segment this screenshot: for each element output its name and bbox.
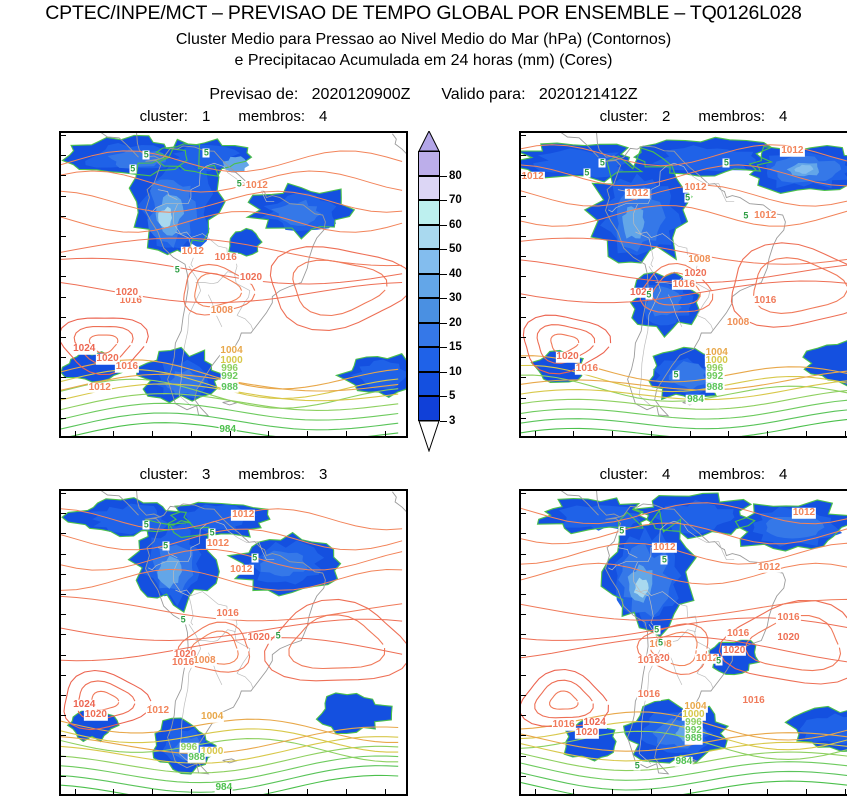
isobar-label: 984 — [686, 394, 705, 405]
cluster-label: cluster: — [600, 466, 648, 483]
isobar-label: 1020 — [247, 633, 271, 644]
colorbar-cell — [418, 347, 440, 372]
x-axis-tick — [728, 431, 729, 436]
precip-contour-label: 5 — [174, 266, 181, 275]
isobar-label: 1012 — [521, 172, 545, 183]
isobar-label: 988 — [220, 382, 239, 393]
x-axis-tick — [385, 431, 386, 436]
y-axis-tick — [521, 216, 526, 217]
y-axis-tick — [521, 594, 526, 595]
y-axis-tick — [61, 614, 66, 615]
colorbar-value-label: 70 — [449, 194, 462, 206]
isobar-label: 988 — [705, 382, 724, 393]
x-axis-tick — [113, 789, 114, 794]
colorbar-cell — [418, 274, 440, 299]
precip-contour-label: 5 — [715, 656, 722, 665]
y-axis-tick — [521, 735, 526, 736]
colorbar-cell — [418, 323, 440, 348]
y-axis-tick — [61, 594, 66, 595]
isobar-label: 1008 — [210, 306, 234, 317]
isobar-label: 1016 — [672, 279, 696, 290]
colorbar-cell — [418, 176, 440, 201]
y-axis-tick — [521, 175, 526, 176]
isobar-label: 1016 — [741, 696, 765, 707]
x-axis-tick — [806, 789, 807, 794]
y-axis-tick — [61, 256, 66, 257]
colorbar-cell — [418, 225, 440, 250]
y-axis-tick — [521, 236, 526, 237]
precip-contour-label: 5 — [275, 632, 282, 641]
panel-4: cluster:4membros:41012101210121016102010… — [519, 489, 847, 796]
y-axis-tick — [521, 398, 526, 399]
x-axis-tick — [845, 431, 846, 436]
colorbar-value-label: 80 — [449, 170, 462, 182]
precip-contour-label: 5 — [203, 149, 210, 158]
members-count: 3 — [319, 466, 327, 483]
y-axis-tick — [61, 574, 66, 575]
colorbar-tick — [440, 372, 447, 373]
isobar-label: 1012 — [757, 563, 781, 574]
colorbar-tick — [440, 176, 447, 177]
cluster-number: 2 — [662, 108, 670, 125]
isobar-label: 1004 — [200, 712, 224, 723]
x-axis-tick — [651, 431, 652, 436]
y-axis-tick — [521, 776, 526, 777]
panel-4-plot-area[interactable]: 1012101210121016102010081020101210161016… — [519, 489, 847, 796]
precip-contour-label: 5 — [599, 159, 606, 168]
x-axis-tick — [191, 431, 192, 436]
y-axis-tick — [61, 756, 66, 757]
x-axis-tick — [230, 789, 231, 794]
isobar-label: 1012 — [780, 146, 804, 157]
x-axis-tick — [307, 789, 308, 794]
x-axis-tick — [728, 789, 729, 794]
colorbar-tick — [440, 421, 447, 422]
x-axis-tick — [191, 789, 192, 794]
members-label: membros: — [238, 108, 305, 125]
isobars — [61, 151, 406, 436]
cluster-label: cluster: — [600, 108, 648, 125]
isobar-label: 1012 — [753, 211, 777, 222]
precip-contour-label: 5 — [162, 541, 169, 550]
y-axis-tick — [521, 418, 526, 419]
panel-3: cluster:3membros:31012101210121016102010… — [59, 489, 408, 796]
x-axis-tick — [845, 789, 846, 794]
colorbar-arrow-above-max — [418, 131, 440, 152]
colorbar-tick — [440, 249, 447, 250]
y-axis-tick — [61, 715, 66, 716]
precip-contour-label: 5 — [634, 761, 641, 770]
isobar-label: 1016 — [753, 295, 777, 306]
x-axis-tick — [690, 789, 691, 794]
x-axis-tick — [75, 789, 76, 794]
isobar-label: 1012 — [245, 180, 269, 191]
isobar-label: 1012 — [652, 542, 676, 553]
y-axis-tick — [521, 533, 526, 534]
y-axis-tick — [61, 655, 66, 656]
precip-contour-label: 5 — [209, 529, 216, 538]
y-axis-tick — [521, 715, 526, 716]
x-axis-tick — [612, 431, 613, 436]
precip-contour-label: 5 — [742, 211, 749, 220]
isobar-label: 1012 — [625, 188, 649, 199]
panel-4-title: cluster:4membros:4 — [519, 466, 847, 483]
y-axis-tick — [61, 418, 66, 419]
x-axis-tick — [535, 431, 536, 436]
precip-contour-label: 5 — [180, 616, 187, 625]
y-axis-tick — [521, 756, 526, 757]
y-axis-tick — [521, 695, 526, 696]
y-axis-tick — [521, 276, 526, 277]
y-axis-tick — [521, 297, 526, 298]
isobar-label: 1020 — [776, 633, 800, 644]
members-count: 4 — [779, 466, 787, 483]
isobar-label: 1012 — [231, 510, 255, 521]
y-axis-tick — [521, 135, 526, 136]
y-axis-tick — [521, 634, 526, 635]
colorbar-value-label: 5 — [449, 390, 455, 402]
isobar-label: 1016 — [171, 657, 195, 668]
y-axis-tick — [61, 377, 66, 378]
x-axis-tick — [573, 789, 574, 794]
y-axis-tick — [61, 735, 66, 736]
y-axis-tick — [61, 634, 66, 635]
isobar-label: 1020 — [555, 352, 579, 363]
y-axis-tick — [61, 493, 66, 494]
x-axis-tick — [268, 431, 269, 436]
colorbar-tick — [440, 347, 447, 348]
precip-contour-label: 5 — [723, 159, 730, 168]
subtitle-line-2: e Precipitacao Acumulada em 24 horas (mm… — [0, 52, 847, 70]
precip-contour-label: 5 — [653, 626, 660, 635]
panel-2: cluster:2membros:41012101210121012101210… — [519, 131, 847, 438]
forecast-time-line: Previsao de: 2020120900Z Valido para: 20… — [0, 86, 847, 104]
y-axis-tick — [521, 317, 526, 318]
colorbar-value-label: 15 — [449, 341, 462, 353]
y-axis-tick — [521, 377, 526, 378]
colorbar-value-label: 40 — [449, 268, 462, 280]
isobar-label: 1020 — [239, 273, 263, 284]
isobar-label: 1016 — [552, 720, 576, 731]
y-axis-tick — [61, 337, 66, 338]
y-axis-tick — [521, 513, 526, 514]
y-axis-tick — [521, 655, 526, 656]
y-axis-tick — [521, 493, 526, 494]
cluster-number: 4 — [662, 466, 670, 483]
x-axis-tick — [535, 789, 536, 794]
y-axis-tick — [61, 398, 66, 399]
members-label: membros: — [698, 466, 765, 483]
members-label: membros: — [238, 466, 305, 483]
x-axis-tick — [806, 431, 807, 436]
y-axis-tick — [61, 216, 66, 217]
colorbar-value-label: 60 — [449, 219, 462, 231]
precip-contour-label: 5 — [143, 521, 150, 530]
colorbar-cell — [418, 151, 440, 176]
x-axis-tick — [767, 789, 768, 794]
y-axis-tick — [61, 236, 66, 237]
isobar-label: 1016 — [216, 609, 240, 620]
precip-contour-label: 5 — [251, 553, 258, 562]
x-axis-tick — [573, 431, 574, 436]
y-axis-tick — [521, 614, 526, 615]
y-axis-tick — [61, 276, 66, 277]
y-axis-tick — [521, 675, 526, 676]
y-axis-tick — [521, 554, 526, 555]
precip-contour-label: 5 — [645, 290, 652, 299]
y-axis-tick — [521, 574, 526, 575]
subtitle-line-1: Cluster Medio para Pressao ao Nivel Medi… — [0, 31, 847, 49]
y-axis-tick — [521, 357, 526, 358]
colorbar-cell — [418, 298, 440, 323]
y-axis-tick — [61, 196, 66, 197]
y-axis-tick — [61, 175, 66, 176]
y-axis-tick — [61, 554, 66, 555]
isobar-label: 1012 — [792, 508, 816, 519]
x-axis-tick — [152, 431, 153, 436]
y-axis-tick — [521, 155, 526, 156]
y-axis-tick — [61, 675, 66, 676]
valid-for-value: 2020121412Z — [539, 86, 638, 103]
colorbar-cell — [418, 372, 440, 397]
isobar-label: 1008 — [687, 255, 711, 266]
colorbar-value-label: 50 — [449, 243, 462, 255]
precip-contour-label: 5 — [673, 371, 680, 380]
y-axis-tick — [61, 357, 66, 358]
precip-contour-label: 5 — [657, 638, 664, 647]
x-axis-tick — [346, 789, 347, 794]
y-axis-tick — [61, 155, 66, 156]
members-label: membros: — [698, 108, 765, 125]
x-axis-tick — [385, 789, 386, 794]
colorbar-cell — [418, 200, 440, 225]
x-axis-tick — [307, 431, 308, 436]
y-axis-tick — [61, 513, 66, 514]
panel-2-title: cluster:2membros:4 — [519, 108, 847, 125]
isobar-label: 1024 — [72, 344, 96, 355]
x-axis-tick — [75, 431, 76, 436]
y-axis-tick — [61, 776, 66, 777]
isobar-label: 1012 — [206, 538, 230, 549]
y-axis-tick — [61, 297, 66, 298]
precip-contour-label: 5 — [129, 165, 136, 174]
isobar-label: 1012 — [88, 382, 112, 393]
colorbar-value-label: 3 — [449, 415, 455, 427]
colorbar-value-label: 10 — [449, 366, 462, 378]
panel-3-plot-area[interactable]: 1012101210121016102010201008101610241020… — [59, 489, 408, 796]
y-axis-tick — [521, 196, 526, 197]
isobar-label: 1016 — [637, 655, 661, 666]
panel-3-field — [61, 491, 406, 794]
panel-1: cluster:1membros:41012101210161016102010… — [59, 131, 408, 438]
colorbar-tick — [440, 298, 447, 299]
y-axis-tick — [521, 256, 526, 257]
isobar-label: 1020 — [115, 287, 139, 298]
panel-1-title: cluster:1membros:4 — [59, 108, 408, 125]
y-axis-tick — [61, 695, 66, 696]
isobar-label: 1020 — [84, 710, 108, 721]
x-axis-tick — [268, 789, 269, 794]
isobar-label: 1020 — [722, 645, 746, 656]
x-axis-tick — [690, 431, 691, 436]
precip-contour-label: 5 — [143, 151, 150, 160]
colorbar-tick — [440, 274, 447, 275]
colorbar: 80706050403020151053 — [418, 131, 488, 443]
isobar-label: 988 — [684, 734, 703, 745]
isobar-label: 1016 — [726, 629, 750, 640]
isobar-label: 984 — [674, 756, 693, 767]
colorbar-tick — [440, 396, 447, 397]
cluster-label: cluster: — [140, 466, 188, 483]
x-axis-tick — [230, 431, 231, 436]
cluster-label: cluster: — [140, 108, 188, 125]
isobar-label: 1012 — [181, 247, 205, 258]
isobar-label: 988 — [187, 752, 206, 763]
y-axis-tick — [61, 317, 66, 318]
isobar-label: 1016 — [214, 253, 238, 264]
x-axis-tick — [767, 431, 768, 436]
colorbar-cell — [418, 396, 440, 421]
isobar-label: 1016 — [575, 364, 599, 375]
precip-contour-label: 5 — [661, 555, 668, 564]
x-axis-tick — [612, 789, 613, 794]
isobar-label: 1016 — [776, 613, 800, 624]
panel-2-plot-area[interactable]: 1012101210121012101210201016100810241008… — [519, 131, 847, 438]
precip-contour-label: 5 — [618, 527, 625, 536]
precip-contour-label: 5 — [583, 169, 590, 178]
y-axis-tick — [61, 533, 66, 534]
members-count: 4 — [319, 108, 327, 125]
cluster-number: 1 — [202, 108, 210, 125]
isobar-label: 1008 — [726, 318, 750, 329]
forecast-from-value: 2020120900Z — [312, 86, 411, 103]
members-count: 4 — [779, 108, 787, 125]
colorbar-value-label: 30 — [449, 292, 462, 304]
precip-contour-label: 5 — [236, 179, 243, 188]
isobar-label: 1016 — [115, 362, 139, 373]
isobar-label: 1008 — [192, 655, 216, 666]
y-axis-tick — [61, 135, 66, 136]
colorbar-value-label: 20 — [449, 317, 462, 329]
isobar-label: 1012 — [229, 565, 253, 576]
valid-for-label: Valido para: — [441, 86, 525, 103]
isobar-label: 984 — [218, 425, 237, 436]
main-title: CPTEC/INPE/MCT – PREVISAO DE TEMPO GLOBA… — [0, 2, 847, 25]
colorbar-tick — [440, 200, 447, 201]
panel-3-title: cluster:3membros:3 — [59, 466, 408, 483]
isobar-label: 1012 — [146, 706, 170, 717]
colorbar-arrow-below-min — [418, 421, 440, 452]
x-axis-tick — [346, 431, 347, 436]
x-axis-tick — [651, 789, 652, 794]
x-axis-tick — [113, 431, 114, 436]
precip-contour-label: 5 — [684, 193, 691, 202]
x-axis-tick — [152, 789, 153, 794]
colorbar-tick — [440, 225, 447, 226]
isobar-label: 1020 — [575, 728, 599, 739]
forecast-from-label: Previsao de: — [209, 86, 298, 103]
isobar-label: 1016 — [637, 690, 661, 701]
cluster-number: 3 — [202, 466, 210, 483]
colorbar-tick — [440, 323, 447, 324]
colorbar-cell — [418, 249, 440, 274]
y-axis-tick — [521, 337, 526, 338]
panel-1-plot-area[interactable]: 1012101210161016102010201008102410201016… — [59, 131, 408, 438]
isobars — [61, 509, 406, 794]
